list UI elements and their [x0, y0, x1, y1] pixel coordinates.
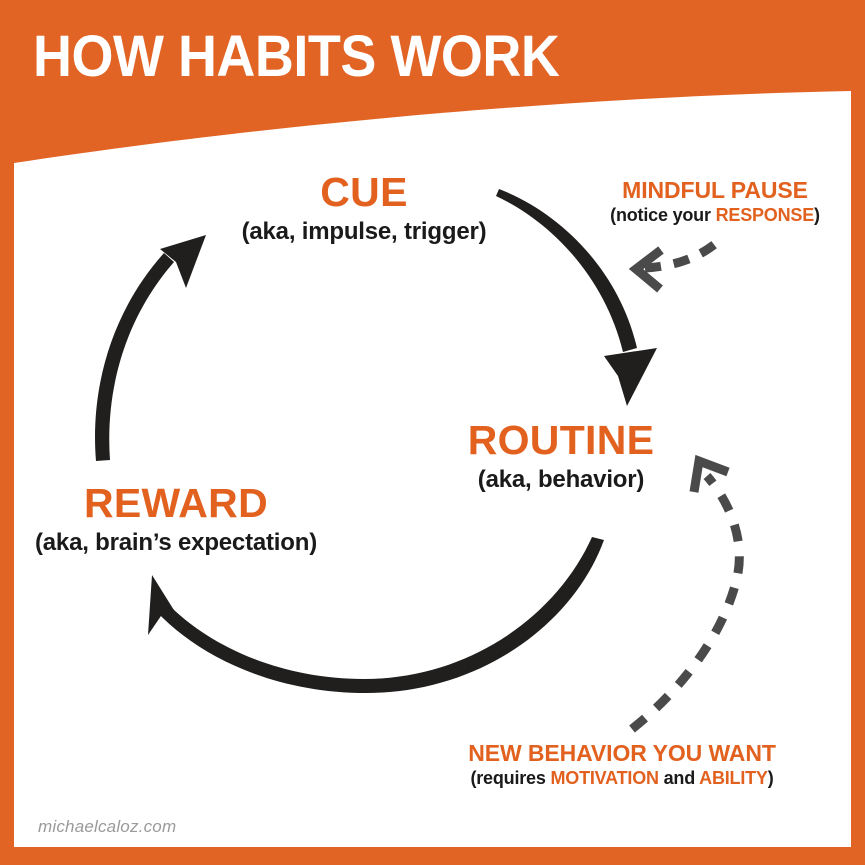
node-routine: ROUTINE (aka, behavior) — [440, 420, 682, 492]
new-behavior-body-suffix: ) — [768, 768, 774, 788]
new-behavior-body-middle: and — [659, 768, 699, 788]
infographic-artwork — [0, 0, 865, 865]
node-cue-sublabel: (aka, impulse, trigger) — [228, 220, 500, 244]
node-cue-label: CUE — [228, 172, 500, 213]
node-reward: REWARD (aka, brain’s expectation) — [15, 483, 337, 555]
mindful-pause-body-suffix: ) — [814, 205, 820, 225]
node-routine-label: ROUTINE — [440, 420, 682, 461]
node-cue: CUE (aka, impulse, trigger) — [228, 172, 500, 244]
node-reward-sublabel: (aka, brain’s expectation) — [15, 531, 337, 555]
annotation-new-behavior-heading: NEW BEHAVIOR YOU WANT — [428, 742, 816, 765]
annotation-mindful-pause: MINDFUL PAUSE (notice your RESPONSE) — [597, 179, 833, 224]
new-behavior-body-highlight-1: MOTIVATION — [550, 768, 658, 788]
mindful-pause-body-highlight: RESPONSE — [716, 205, 814, 225]
mindful-pause-body-prefix: (notice your — [610, 205, 715, 225]
node-reward-label: REWARD — [15, 483, 337, 524]
watermark-credit: michaelcaloz.com — [38, 818, 176, 835]
annotation-mindful-pause-heading: MINDFUL PAUSE — [597, 179, 833, 202]
new-behavior-body-highlight-2: ABILITY — [699, 768, 768, 788]
page-title: HOW HABITS WORK — [33, 28, 559, 86]
annotation-new-behavior: NEW BEHAVIOR YOU WANT (requires MOTIVATI… — [428, 742, 816, 787]
node-routine-sublabel: (aka, behavior) — [440, 468, 682, 492]
annotation-new-behavior-body: (requires MOTIVATION and ABILITY) — [428, 769, 816, 787]
annotation-mindful-pause-body: (notice your RESPONSE) — [597, 206, 833, 224]
new-behavior-body-prefix: (requires — [470, 768, 550, 788]
habit-loop-infographic: HOW HABITS WORK CUE (aka, impulse, trigg… — [0, 0, 865, 865]
